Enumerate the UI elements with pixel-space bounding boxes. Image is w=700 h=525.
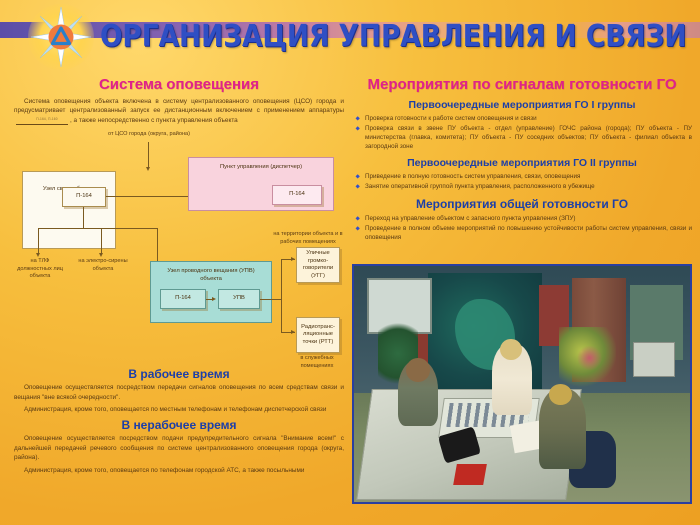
box-p164-upv-label: П-164 [175, 295, 191, 303]
label-out-tlf: на ТЛФ должностных лиц объекта [14, 258, 66, 280]
list-item-text: Занятие оперативной группой пункта управ… [365, 183, 595, 190]
list-item: Проверка готовности к работе систем опов… [352, 114, 692, 123]
list-item: Приведение в полную готовность систем уп… [352, 172, 692, 181]
label-out-sirens: на электро-сирены объекта [78, 258, 128, 273]
photo-computer-monitor [633, 342, 675, 377]
alert-system-diagram: от ЦСО города (округа, района) Узел связ… [14, 131, 344, 363]
box-punkt-upravleniya-label: Пункт управления (диспетчер) [213, 164, 309, 172]
bullet-diamond-icon [355, 116, 360, 121]
offwork-paragraph-2: Администрация, кроме того, оповещается п… [14, 466, 344, 475]
left-intro-paragraph: Система оповещения объекта включена в си… [14, 97, 344, 127]
arrow-siren [99, 253, 103, 257]
box-p164-upv: П-164 [160, 289, 206, 309]
box-rtt: Радиотранс-ляционные точки (РТТ) [296, 317, 340, 353]
bullet-diamond-icon [355, 184, 360, 189]
bullet-diamond-icon [355, 216, 360, 221]
bullet-list-general: Переход на управление объектом с запасно… [352, 214, 692, 242]
section-title-group2: Первоочередные мероприятия ГО II группы [352, 157, 692, 169]
list-item-text: Проверка готовности к работе систем опов… [365, 115, 537, 122]
work-time-paragraph-1: Оповещение осуществляется посредством пе… [14, 383, 344, 402]
poster-header: ОРГАНИЗАЦИЯ УПРАВЛЕНИЯ И СВЯЗИ [0, 0, 700, 72]
photo-flower-red [576, 346, 603, 370]
list-item: Занятие оперативной группой пункта управ… [352, 182, 692, 191]
box-p164-uzel-label: П-164 [76, 193, 92, 201]
connector-siren-down [101, 228, 102, 254]
list-item: Переход на управление объектом с запасно… [352, 214, 692, 223]
box-p164-uzel: П-164 [62, 187, 106, 207]
right-heading: Мероприятия по сигналам готовности ГО [352, 76, 692, 93]
arrow-ugg [291, 257, 295, 261]
connector-tlf-down [38, 228, 39, 254]
fill-in-blank: П-164, П-160 [16, 116, 68, 125]
diagram-source-label: от ЦСО города (округа, района) [74, 131, 224, 138]
box-p164-punkt: П-164 [272, 185, 322, 205]
photo-control-room [352, 264, 692, 504]
box-ugg-label: Уличные громко-говорители (УГГ) [297, 250, 339, 280]
offwork-paragraph-1: Оповещение осуществляется посредством по… [14, 434, 344, 462]
list-item-text: Переход на управление объектом с запасно… [365, 215, 576, 222]
arrow-p164-to-upv [212, 297, 216, 301]
emercom-star-emblem [30, 6, 92, 68]
bullet-diamond-icon [355, 226, 360, 231]
list-item: Проведение в полном объеме мероприятий п… [352, 224, 692, 242]
poster-title: ОРГАНИЗАЦИЯ УПРАВЛЕНИЯ И СВЯЗИ [316, 8, 686, 64]
label-dest-bottom: в служебных помещениях [288, 355, 346, 370]
left-column: Система оповещения Система оповещения об… [14, 76, 344, 516]
box-rtt-label: Радиотранс-ляционные точки (РТТ) [297, 324, 339, 347]
poster-root: ОРГАНИЗАЦИЯ УПРАВЛЕНИЯ И СВЯЗИ Система о… [0, 0, 700, 525]
offwork-time-heading: В нерабочее время [14, 418, 344, 432]
bullet-list-group2: Приведение в полную готовность систем уп… [352, 172, 692, 191]
bullet-list-group1: Проверка готовности к работе систем опов… [352, 114, 692, 151]
photo-person-left-head [406, 358, 430, 382]
box-ugg: Уличные громко-говорители (УГГ) [296, 247, 340, 283]
section-title-group1: Первоочередные мероприятия ГО I группы [352, 99, 692, 111]
left-intro-part2: , а также непосредственно с пункта управ… [70, 117, 238, 124]
box-upv-label: УПВ [233, 295, 245, 303]
arrow-tlf [36, 253, 40, 257]
list-item-text: Приведение в полную готовность систем уп… [365, 173, 580, 180]
arrow-source-down [146, 167, 150, 171]
right-column: Мероприятия по сигналам готовности ГО Пе… [352, 76, 692, 516]
left-intro-part1: Система оповещения объекта включена в си… [14, 98, 344, 114]
bullet-diamond-icon [355, 126, 360, 131]
connector-bus-down [83, 207, 84, 229]
photo-red-folder [453, 464, 487, 485]
connector-upv-out [260, 299, 282, 300]
connector-source-down [148, 142, 149, 168]
fill-in-blank-caption: П-164, П-160 [16, 115, 68, 124]
work-time-paragraph-2: Администрация, кроме того, оповещается п… [14, 405, 344, 414]
connector-bus-horizontal [38, 228, 157, 229]
arrow-rtt [291, 330, 295, 334]
poster-title-text: ОРГАНИЗАЦИЯ УПРАВЛЕНИЯ И СВЯЗИ [99, 19, 686, 54]
list-item-text: Проведение в полном объеме мероприятий п… [365, 225, 692, 241]
list-item-text: Проверка связи в звене ПУ объекта - отде… [365, 125, 692, 150]
photo-content [354, 266, 690, 502]
section-title-general: Мероприятия общей готовности ГО [352, 197, 692, 211]
left-heading: Система оповещения [14, 76, 344, 93]
box-upv-title: Узел проводного вещания (УПВ) объекта [157, 268, 265, 283]
label-dest-top: на территории объекта и в рабочих помеще… [272, 231, 344, 246]
box-upv-inner: УПВ [218, 289, 260, 309]
connector-upv-branch [281, 259, 282, 333]
box-p164-punkt-label: П-164 [289, 191, 305, 199]
bullet-diamond-icon [355, 174, 360, 179]
list-item: Проверка связи в звене ПУ объекта - отде… [352, 124, 692, 151]
